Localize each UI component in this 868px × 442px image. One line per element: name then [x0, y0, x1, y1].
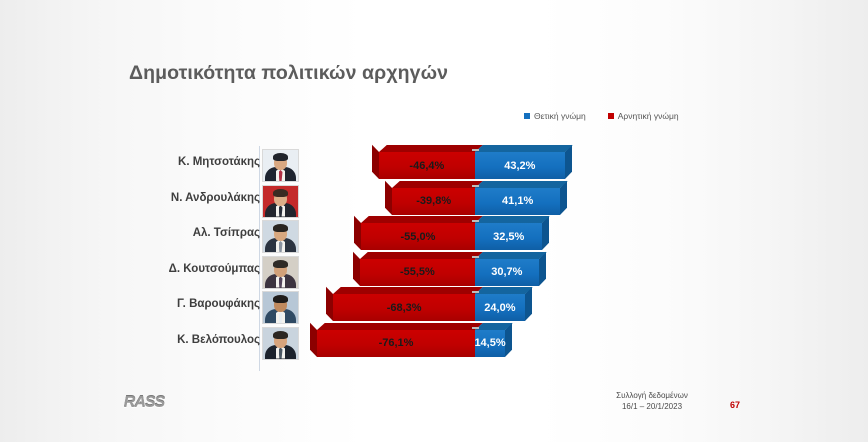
bar-side-face	[354, 216, 361, 250]
footer-note: Συλλογή δεδομένων 16/1 – 20/1/2023	[604, 391, 700, 413]
bar-top-face	[333, 287, 482, 294]
bar-negative: -68,3%	[333, 294, 475, 321]
zero-axis-tick	[472, 256, 479, 258]
category-label: Κ. Μητσοτάκης	[178, 156, 260, 168]
chart-row: Αλ. Τσίπρας-55,0%32,5%	[0, 219, 868, 254]
bar-top-face	[475, 216, 550, 223]
bar-value-positive: 32,5%	[475, 223, 542, 250]
bar-top-face	[361, 216, 483, 223]
bar-value-negative: -68,3%	[333, 294, 475, 321]
bar-value-negative: -55,0%	[361, 223, 475, 250]
bar-top-face	[392, 181, 482, 188]
bar-top-face	[475, 287, 533, 294]
bar-value-positive: 30,7%	[475, 259, 539, 286]
bar-negative: -76,1%	[317, 330, 475, 357]
bar-top-face	[475, 145, 572, 152]
bar-value-positive: 43,2%	[475, 152, 565, 179]
portrait-mitsotakis	[262, 149, 299, 182]
chart-row: Κ. Βελόπουλος-76,1%14,5%	[0, 326, 868, 361]
bar-top-face	[475, 181, 568, 188]
bar-side-face	[310, 322, 317, 356]
bar-negative: -55,0%	[361, 223, 475, 250]
bar-negative: -46,4%	[379, 152, 475, 179]
category-label: Αλ. Τσίπρας	[193, 227, 260, 239]
bar-side-face	[385, 180, 392, 214]
bar-positive: 30,7%	[475, 259, 539, 286]
footer-note-line2: 16/1 – 20/1/2023	[604, 402, 700, 413]
bar-value-negative: -76,1%	[317, 330, 475, 357]
diverging-bar-chart: Κ. Μητσοτάκης-46,4%43,2%Ν. Ανδρουλάκης-3…	[0, 0, 868, 442]
bar-top-face	[317, 323, 483, 330]
chart-row: Ν. Ανδρουλάκης-39,8%41,1%	[0, 184, 868, 219]
bar-positive: 24,0%	[475, 294, 525, 321]
rass-logo: RASS	[113, 394, 175, 412]
chart-row: Κ. Μητσοτάκης-46,4%43,2%	[0, 148, 868, 183]
bar-value-negative: -39,8%	[392, 188, 475, 215]
bar-value-positive: 24,0%	[475, 294, 525, 321]
bar-value-positive: 41,1%	[475, 188, 560, 215]
page-number: 67	[730, 400, 740, 410]
bar-top-face	[475, 252, 546, 259]
bar-positive: 43,2%	[475, 152, 565, 179]
bar-side-face	[353, 251, 360, 285]
category-label: Κ. Βελόπουλος	[177, 334, 260, 346]
bar-positive: 41,1%	[475, 188, 560, 215]
bar-positive: 14,5%	[475, 330, 505, 357]
portrait-varoufakis	[262, 291, 299, 324]
bar-value-negative: -46,4%	[379, 152, 475, 179]
bar-negative: -39,8%	[392, 188, 475, 215]
bar-top-face	[360, 252, 483, 259]
slide-canvas: Δημοτικότητα πολιτικών αρχηγών Θετική γν…	[0, 0, 868, 442]
portrait-tsipras	[262, 220, 299, 253]
zero-axis-tick	[472, 220, 479, 222]
bar-positive: 32,5%	[475, 223, 542, 250]
footer-note-line1: Συλλογή δεδομένων	[604, 391, 700, 402]
category-label: Ν. Ανδρουλάκης	[171, 192, 260, 204]
portrait-koutsoumpas	[262, 256, 299, 289]
zero-axis-tick	[472, 185, 479, 187]
bar-value-positive: 14,5%	[475, 330, 505, 357]
portrait-velopoulos	[262, 327, 299, 360]
zero-axis-tick	[472, 291, 479, 293]
category-label: Δ. Κουτσούμπας	[169, 263, 260, 275]
zero-axis-tick	[472, 327, 479, 329]
zero-axis-tick	[472, 149, 479, 151]
portrait-androulakis	[262, 185, 299, 218]
bar-negative: -55,5%	[360, 259, 475, 286]
bar-top-face	[379, 145, 483, 152]
bar-value-negative: -55,5%	[360, 259, 475, 286]
chart-row: Γ. Βαρουφάκης-68,3%24,0%	[0, 290, 868, 325]
bar-side-face	[326, 287, 333, 321]
bar-side-face	[372, 145, 379, 179]
category-label: Γ. Βαρουφάκης	[177, 298, 260, 310]
chart-row: Δ. Κουτσούμπας-55,5%30,7%	[0, 255, 868, 290]
